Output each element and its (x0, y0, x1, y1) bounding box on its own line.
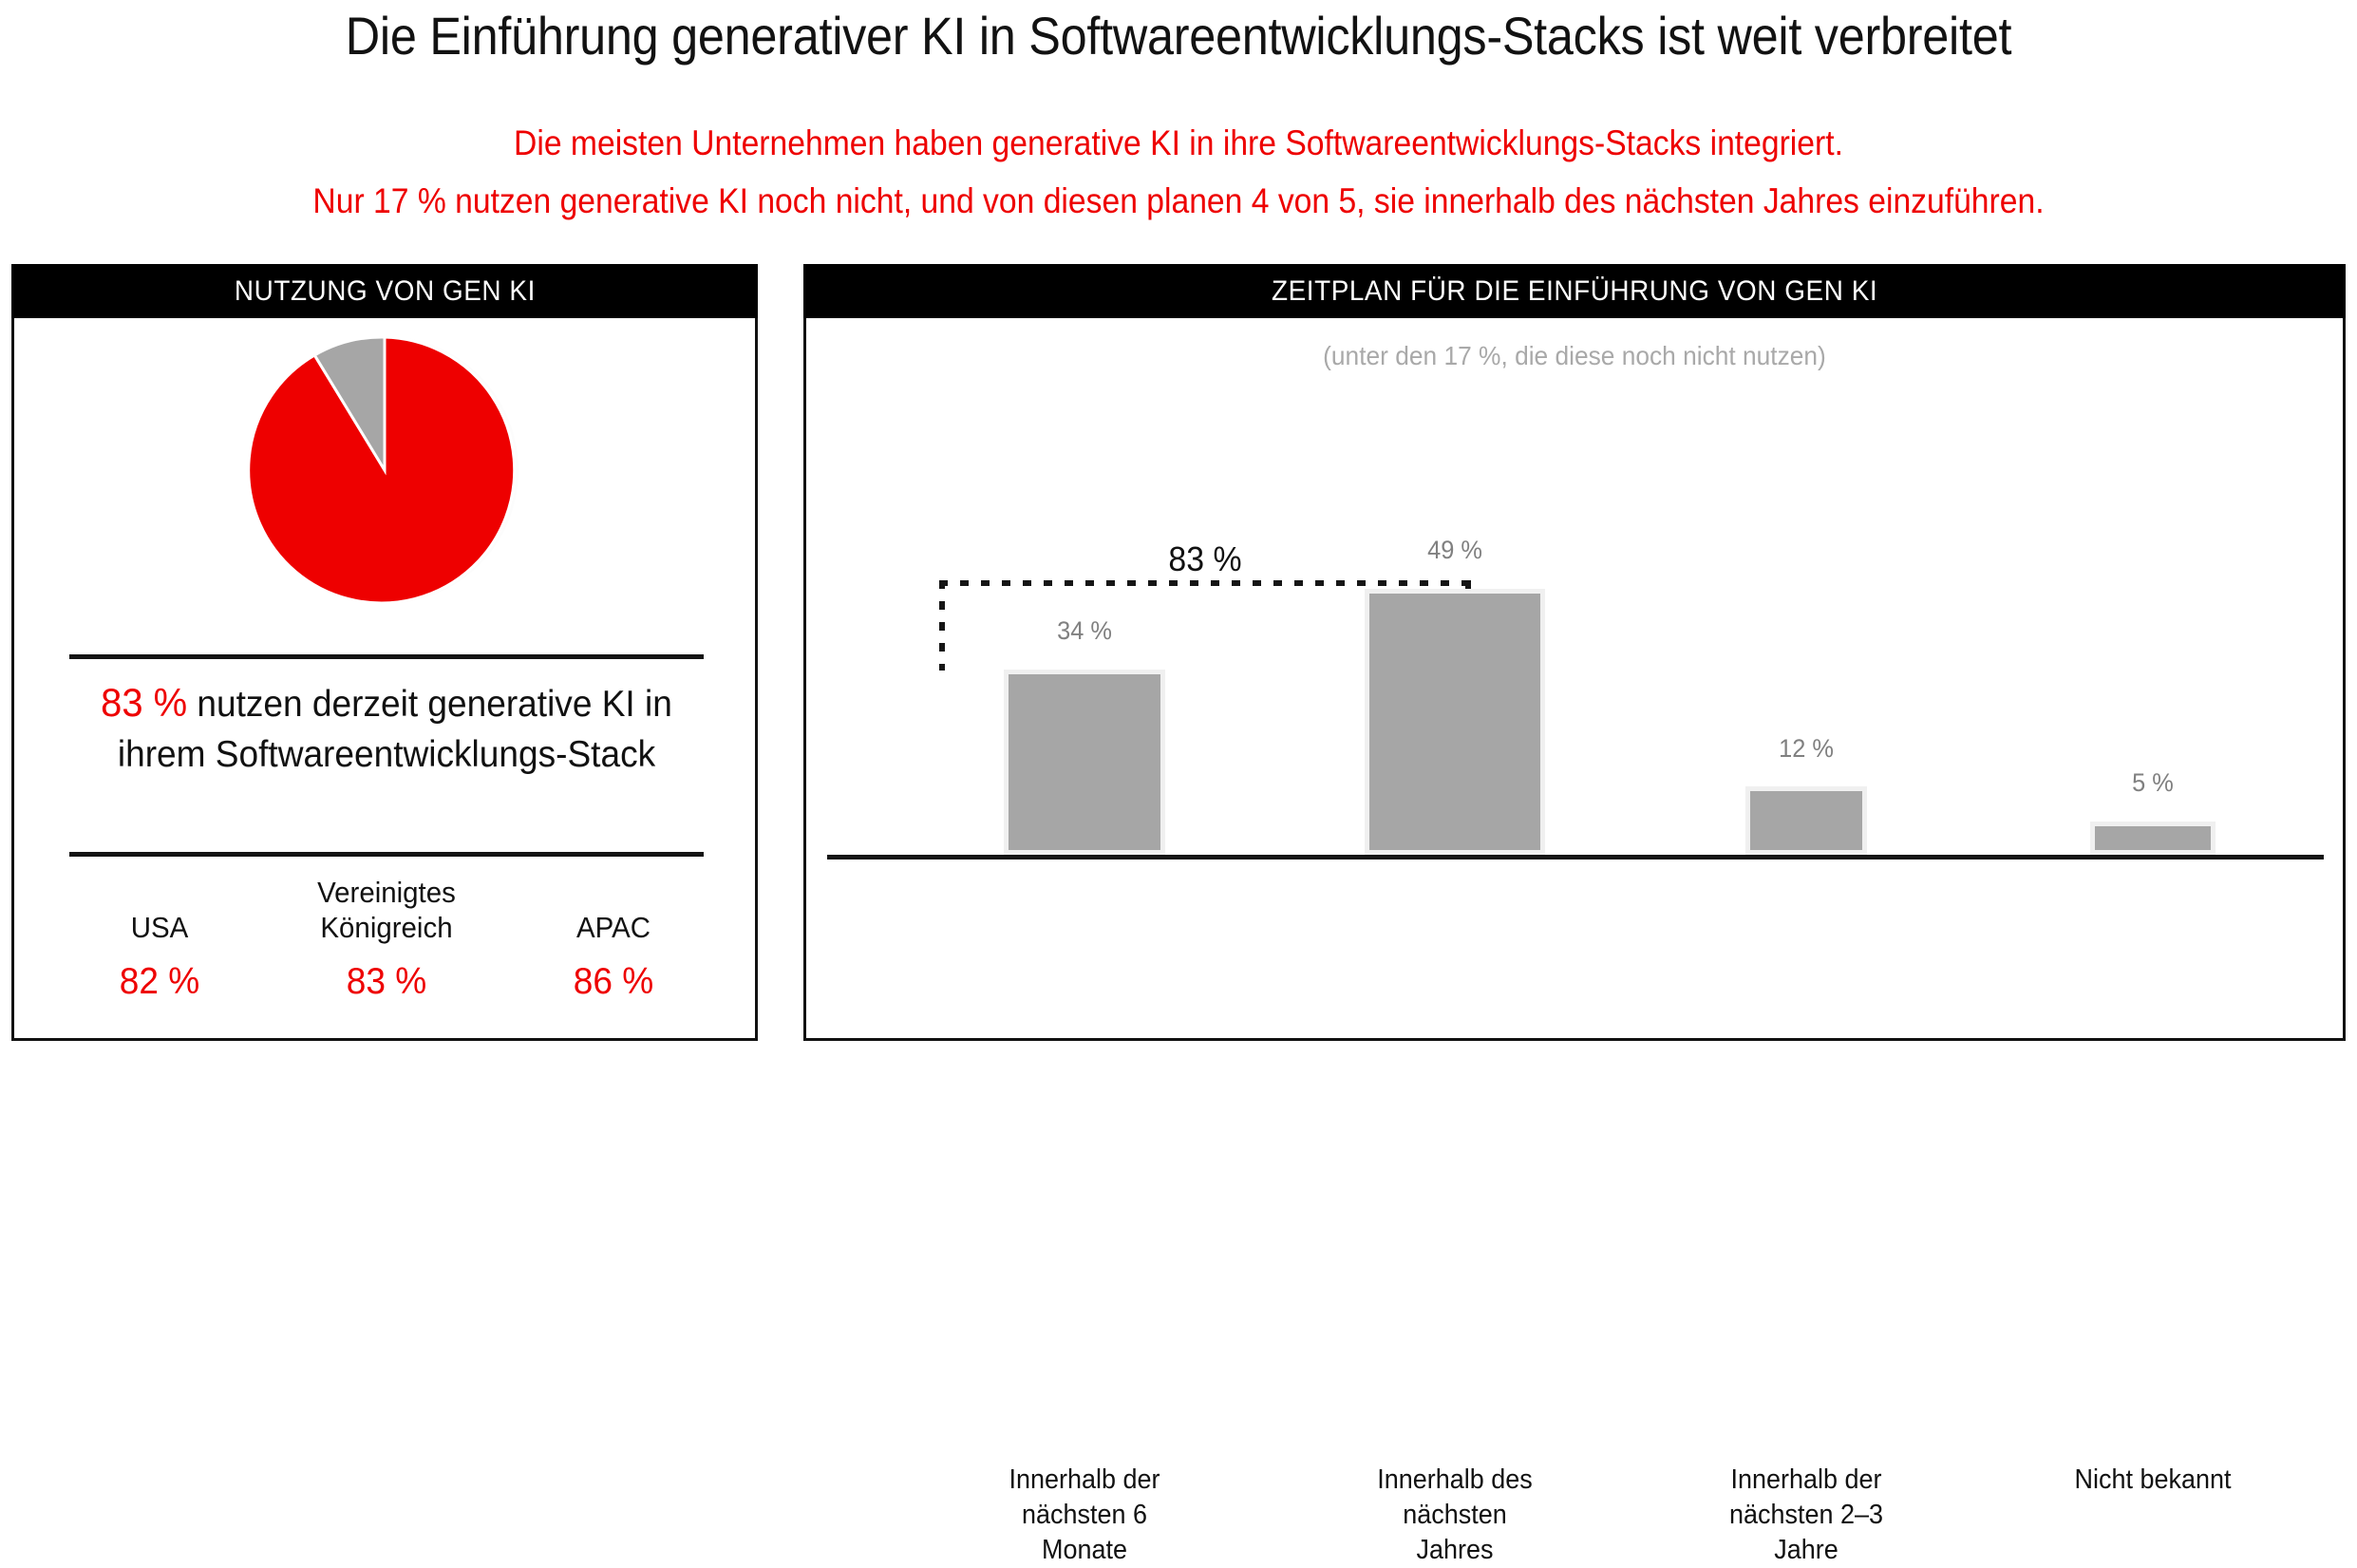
bar-rect[interactable] (1745, 786, 1867, 855)
bar-label-line: Jahre (1673, 1533, 1938, 1568)
bar-label-line: Monate (952, 1533, 1216, 1568)
bar-value-label: 49 % (1427, 536, 1482, 565)
pie-chart-wrapper (14, 335, 755, 605)
subtitle-line-1: Die meisten Unternehmen haben generative… (106, 114, 2252, 172)
pie-chart (250, 335, 519, 605)
page-title: Die Einführung generativer KI in Softwar… (118, 6, 2239, 66)
panel-left-header: NUTZUNG VON GEN KI (11, 264, 758, 318)
bar-label-line: nächsten 6 (952, 1498, 1216, 1533)
region-value: 83 % (292, 961, 481, 1003)
usage-statement: 83 % nutzen derzeit generative KI in ihr… (64, 677, 709, 780)
bar-category-label: Nicht bekannt (2010, 1463, 2295, 1498)
region-stats: USA 82 % Vereinigtes Königreich 83 % APA… (47, 875, 726, 1003)
bar-chart: 83 % 34 % Innerhalb der nächsten 6 Monat… (806, 267, 2343, 1038)
panel-left-header-label: NUTZUNG VON GEN KI (235, 275, 536, 308)
usage-statement-value: 83 % (101, 680, 187, 725)
divider-bottom (69, 852, 704, 857)
bar-label-line: nächsten (1322, 1498, 1587, 1533)
region-stat-usa: USA 82 % (60, 875, 259, 1003)
bar-category-label: Innerhalb der nächsten 2–3 Jahre (1664, 1463, 1949, 1568)
region-value: 86 % (519, 961, 708, 1003)
bar-rect[interactable] (1004, 670, 1165, 855)
bar-label-line: nächsten 2–3 (1673, 1498, 1938, 1533)
bar-value-label: 34 % (1057, 616, 1112, 646)
region-name: APAC (519, 875, 708, 945)
region-stat-uk: Vereinigtes Königreich 83 % (287, 875, 486, 1003)
bar-rect[interactable] (2090, 822, 2216, 855)
usage-statement-text: nutzen derzeit generative KI in ihrem So… (118, 684, 672, 775)
region-name: Vereinigtes Königreich (292, 875, 481, 945)
bar-value-label: 12 % (1779, 734, 1834, 764)
panel-adoption-timeline: ZEITPLAN FÜR DIE EINFÜHRUNG VON GEN KI (… (803, 264, 2346, 1041)
subtitle-line-2: Nur 17 % nutzen generative KI noch nicht… (106, 172, 2252, 230)
infographic-root: Die Einführung generativer KI in Softwar… (0, 0, 2357, 1056)
bar-value-label: 5 % (2132, 768, 2174, 798)
bar-category-label: Innerhalb der nächsten 6 Monate (942, 1463, 1227, 1568)
region-stat-apac: APAC 86 % (514, 875, 713, 1003)
bar-label-line: Innerhalb des (1322, 1463, 1587, 1498)
bar-label-line: Nicht bekannt (2020, 1463, 2285, 1498)
bar-rect[interactable] (1365, 589, 1545, 855)
chart-baseline (827, 855, 2324, 860)
bar-label-line: Innerhalb der (952, 1463, 1216, 1498)
divider-top (69, 654, 704, 659)
bar-category-label: Innerhalb des nächsten Jahres (1312, 1463, 1597, 1568)
bar-label-line: Jahres (1322, 1533, 1587, 1568)
bar-label-line: Innerhalb der (1673, 1463, 1938, 1498)
region-value: 82 % (66, 961, 255, 1003)
region-name: USA (66, 875, 255, 945)
bracket-label: 83 % (1168, 539, 1241, 579)
subtitle-block: Die meisten Unternehmen haben generative… (106, 114, 2252, 230)
panel-gen-ai-usage: NUTZUNG VON GEN KI 83 % nutzen derzeit g… (11, 264, 758, 1041)
